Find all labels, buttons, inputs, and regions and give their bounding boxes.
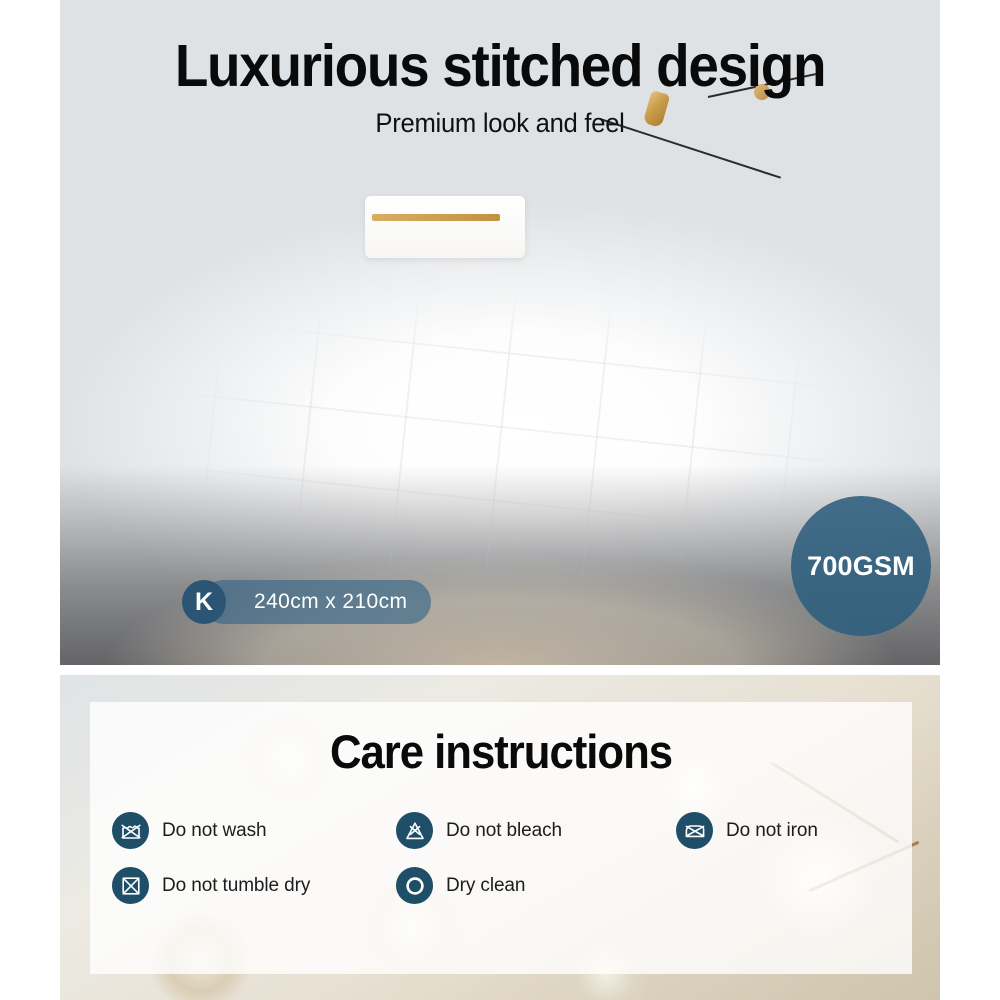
page-subtitle: Premium look and feel [82, 108, 918, 139]
accent-cushion-stripe [372, 214, 500, 221]
do-not-tumble-dry-icon [112, 867, 149, 904]
do-not-iron-icon [676, 812, 713, 849]
dry-clean-icon [396, 867, 433, 904]
product-marketing-image: Luxurious stitched design Premium look a… [0, 0, 1000, 1000]
care-item-dry-clean: Dry clean [396, 867, 676, 904]
size-letter-badge: K [182, 580, 226, 624]
care-item-do-not-tumble-dry: Do not tumble dry [112, 867, 396, 904]
care-item-spacer [676, 867, 896, 904]
care-item-do-not-bleach: Do not bleach [396, 812, 676, 849]
care-title: Care instructions [119, 724, 883, 779]
accent-cushion [365, 196, 525, 258]
do-not-wash-icon [112, 812, 149, 849]
care-item-do-not-wash: Do not wash [112, 812, 396, 849]
care-item-do-not-iron: Do not iron [676, 812, 896, 849]
gsm-badge: 700GSM [791, 496, 931, 636]
care-instructions-grid: Do not wash Do not bleach [112, 812, 902, 922]
page-title: Luxurious stitched design [91, 36, 909, 96]
care-section: Care instructions Do not wash [60, 675, 940, 1000]
care-label: Do not bleach [446, 820, 562, 842]
care-panel: Care instructions Do not wash [90, 702, 912, 974]
care-row: Do not tumble dry Dry clean [112, 867, 902, 904]
care-label: Do not iron [726, 820, 818, 842]
hero-section: Luxurious stitched design Premium look a… [60, 0, 940, 665]
quilted-duvet-texture [130, 279, 887, 612]
care-label: Dry clean [446, 875, 525, 897]
size-badge: 240cm x 210cm K [182, 580, 226, 624]
size-dimensions-label: 240cm x 210cm [202, 580, 431, 624]
do-not-bleach-icon [396, 812, 433, 849]
care-row: Do not wash Do not bleach [112, 812, 902, 849]
care-label: Do not tumble dry [162, 875, 310, 897]
care-label: Do not wash [162, 820, 267, 842]
